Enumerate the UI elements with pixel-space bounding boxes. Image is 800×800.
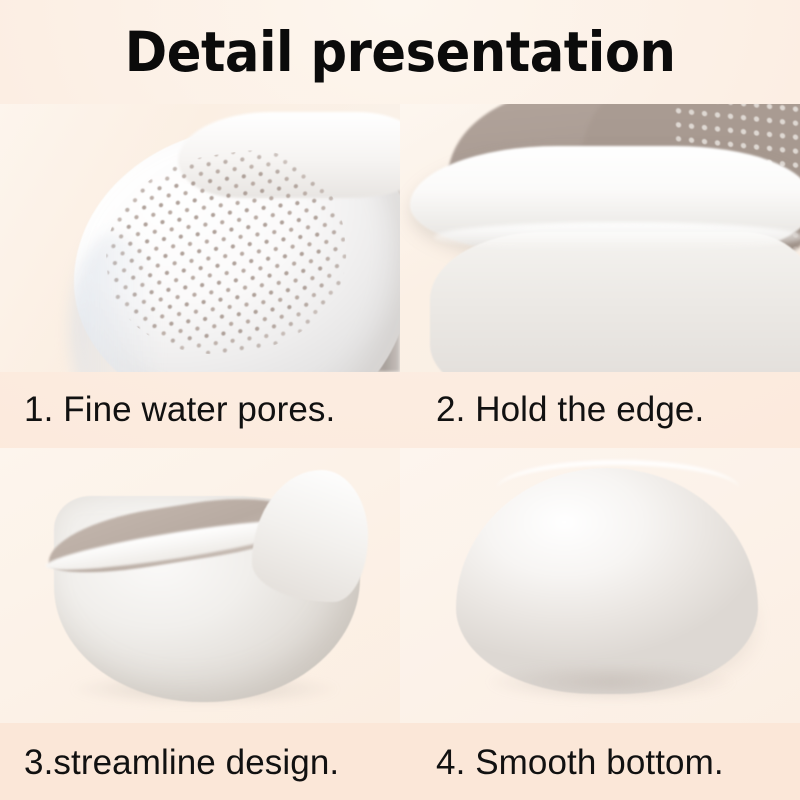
colander-body <box>430 232 800 372</box>
panel-3-caption: 3.streamline design. <box>0 723 400 800</box>
panel-1-caption: 1. Fine water pores. <box>0 372 400 448</box>
rim-edge-highlight <box>434 222 800 252</box>
colander-rolled-rim-photo <box>400 104 800 372</box>
title-bar: Detail presentation <box>0 0 800 104</box>
page-title: Detail presentation <box>125 20 676 84</box>
detail-panel-1: 1. Fine water pores. <box>0 104 400 448</box>
detail-panel-grid: 1. Fine water pores. 2. Hold the edge. 3… <box>0 104 800 800</box>
detail-panel-2: 2. Hold the edge. <box>400 104 800 448</box>
panel-4-caption: 4. Smooth bottom. <box>400 723 800 800</box>
colander-perforated-wall-photo <box>0 104 400 372</box>
panel-2-caption: 2. Hold the edge. <box>400 372 800 448</box>
detail-panel-3: 3.streamline design. <box>0 448 400 800</box>
colander-smooth-bottom-photo <box>400 448 800 723</box>
contact-shadow <box>486 666 736 706</box>
colander-rim <box>496 460 740 520</box>
colander-streamline-profile-photo <box>0 448 400 723</box>
detail-panel-4: 4. Smooth bottom. <box>400 448 800 800</box>
